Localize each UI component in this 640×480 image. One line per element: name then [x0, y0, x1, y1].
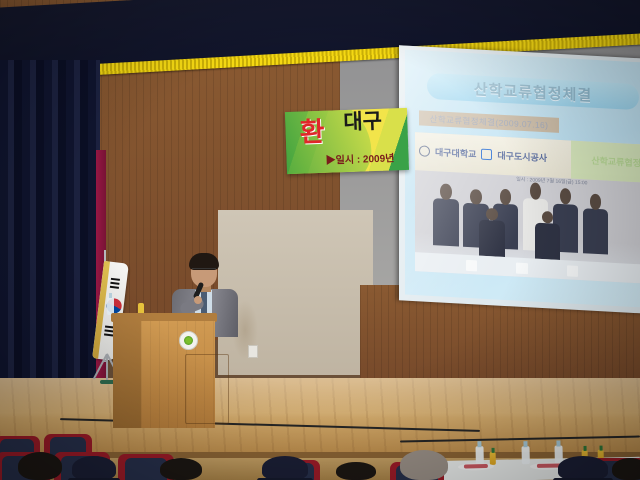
slide-photo: 대구대학교 대구도시공사 산학교류협정 일시 : 2009년 7월 16일(금)… — [415, 132, 640, 283]
photo-banner-green-block — [571, 141, 640, 183]
welcome-banner: 환 대구 ▶일시 : 2009년 — [285, 108, 409, 174]
audience-cap — [262, 456, 308, 480]
corporation-logo-icon — [481, 149, 492, 161]
photo-org-left: 대구대학교 — [435, 145, 476, 160]
projection-screen: 산학교류협정체결 산학교류협정체결(2009.07.16) 대구대학교 대구도시… — [399, 45, 640, 314]
photo-banner: 대구대학교 대구도시공사 산학교류협정 — [415, 132, 640, 182]
photo-cup — [567, 265, 579, 276]
floor-reflection — [0, 378, 640, 418]
photo-people-group — [415, 174, 640, 264]
speaker-hand — [194, 296, 202, 304]
university-seal-icon — [419, 146, 430, 158]
audience-head — [160, 458, 202, 480]
auditorium-photo: 산학교류협정체결 산학교류협정체결(2009.07.16) 대구대학교 대구도시… — [0, 0, 640, 480]
photo-person-seated — [479, 219, 504, 256]
audience-head — [336, 462, 376, 480]
eyeglasses-icon — [192, 268, 216, 275]
audience-cap — [558, 456, 608, 480]
podium-front — [141, 321, 215, 428]
photo-cup — [516, 262, 528, 273]
podium-panel — [185, 354, 229, 424]
banner-date-text: ▶일시 : 2009년 — [325, 149, 394, 166]
stage-curtain — [0, 60, 100, 420]
slide-title: 산학교류협정체결 — [427, 73, 639, 110]
slide-caption: 산학교류협정체결(2009.07.16) — [419, 110, 559, 133]
projection-screen-surface: 산학교류협정체결 산학교류협정체결(2009.07.16) 대구대학교 대구도시… — [405, 50, 640, 308]
photo-person — [583, 208, 608, 255]
photo-person — [433, 198, 458, 246]
photo-org-right: 대구도시공사 — [497, 149, 547, 165]
banner-greeting-char: 환 — [299, 119, 325, 147]
audience-head — [400, 450, 448, 480]
podium — [113, 313, 215, 428]
audience-head — [612, 458, 640, 480]
banner-org-text: 대구 — [343, 111, 382, 133]
power-outlet — [248, 345, 258, 358]
audience-area — [0, 430, 640, 480]
podium-side — [113, 321, 143, 428]
photo-cup — [466, 260, 478, 271]
audience-cap — [72, 456, 116, 480]
audience-head — [18, 452, 62, 480]
podium-emblem-icon — [179, 331, 198, 350]
photo-person-seated — [535, 222, 560, 259]
